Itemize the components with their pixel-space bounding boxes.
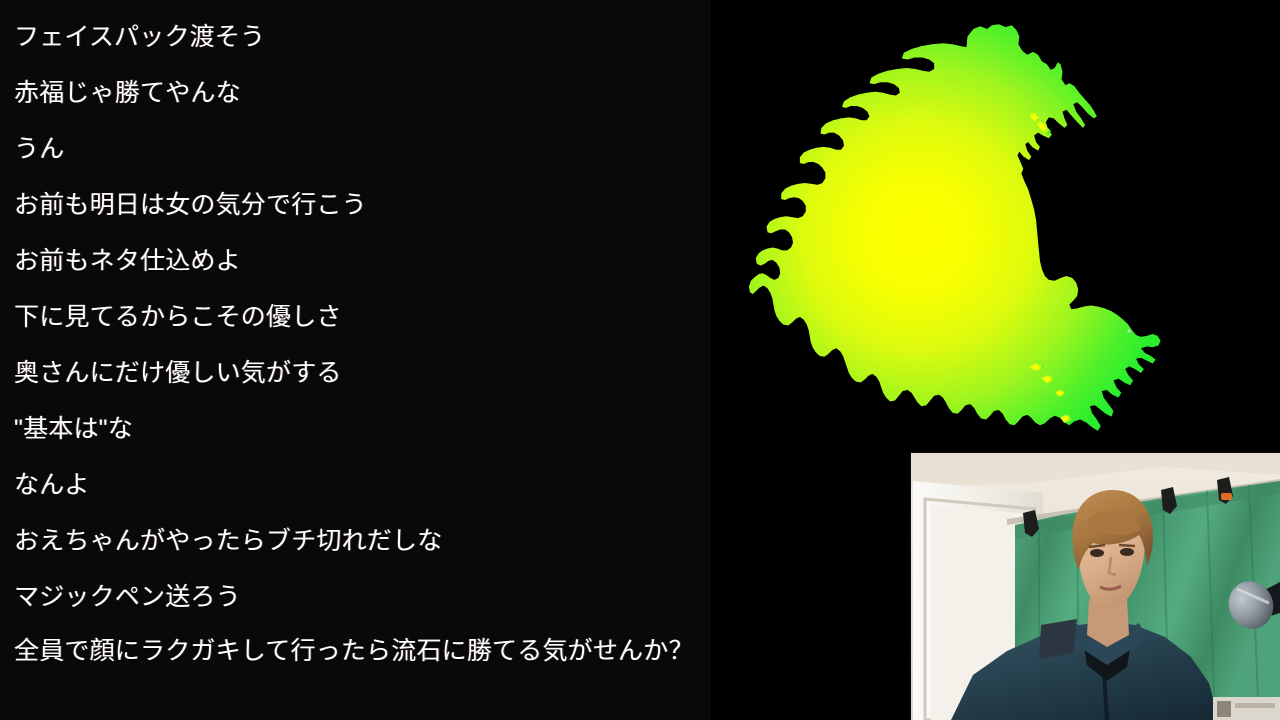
stream-canvas: フェイスパック渡そう 赤福じゃ勝てやんな うん お前も明日は女の気分で行こう お…	[0, 0, 1280, 720]
desk-object	[1213, 697, 1280, 720]
comment-line: うん	[14, 121, 694, 177]
comment-line: "基本は"な	[14, 401, 694, 457]
comment-line: 全員で顔にラクガキして行ったら流石に勝てる気がせんか？	[14, 625, 694, 677]
comment-line: 赤福じゃ勝てやんな	[14, 65, 694, 121]
comment-line: フェイスパック渡そう	[14, 9, 694, 65]
comment-line: 奥さんにだけ優しい気がする	[14, 345, 694, 401]
mie-mainland-shape	[749, 24, 1161, 431]
comment-list: フェイスパック渡そう 赤福じゃ勝てやんな うん お前も明日は女の気分で行こう お…	[14, 9, 694, 677]
webcam-overlay[interactable]	[911, 453, 1280, 720]
comment-line: 下に見てるからこその優しさ	[14, 289, 694, 345]
comment-line: なんよ	[14, 457, 694, 513]
map-speck	[1127, 329, 1130, 332]
comment-line: お前もネタ仕込めよ	[14, 233, 694, 289]
clip-accent	[1221, 493, 1232, 500]
comment-line: マジックペン送ろう	[14, 569, 694, 625]
comment-panel: フェイスパック渡そう 赤福じゃ勝てやんな うん お前も明日は女の気分で行こう お…	[0, 0, 711, 720]
chair-back	[1039, 619, 1077, 659]
comment-line: お前も明日は女の気分で行こう	[14, 177, 694, 233]
comment-line: おえちゃんがやったらブチ切れだしな	[14, 513, 694, 569]
